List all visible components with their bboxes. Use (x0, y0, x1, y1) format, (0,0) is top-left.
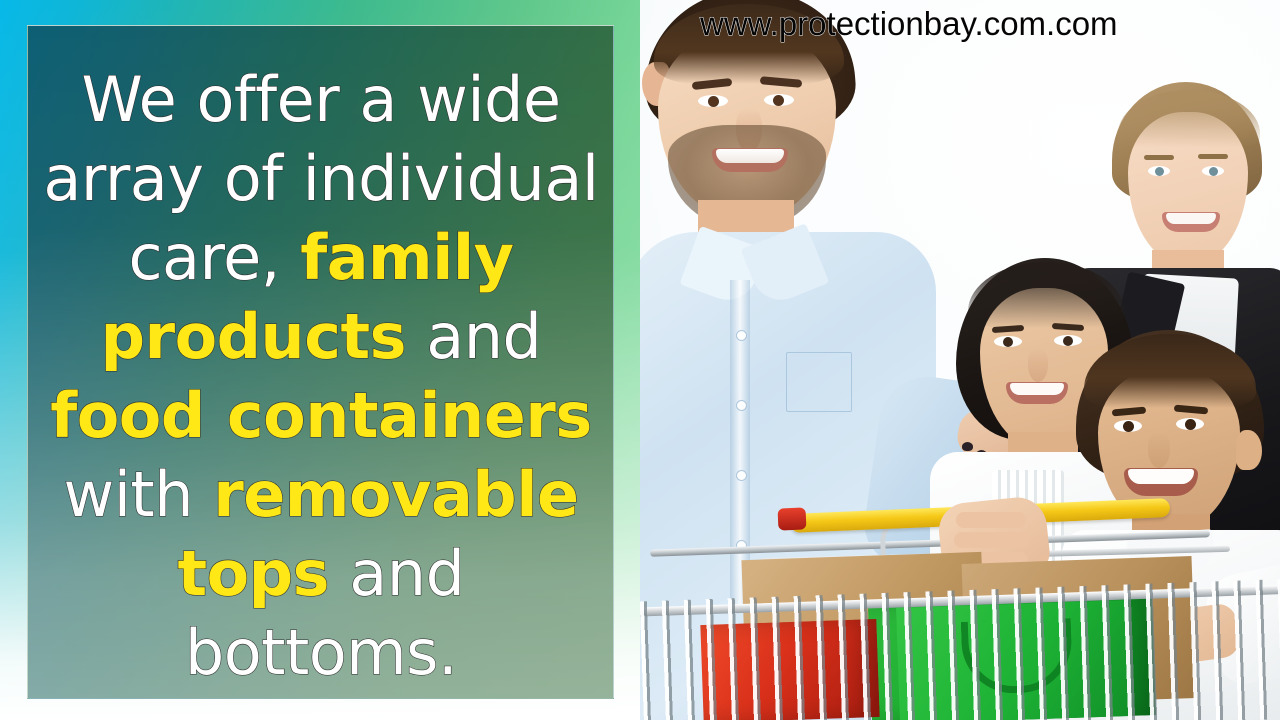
boy-nose (1148, 432, 1170, 468)
man-pupil-left (708, 96, 719, 107)
left-text-panel: We offer a wide array of individual care… (0, 0, 640, 720)
girl-nose (1028, 348, 1048, 382)
girl-pupil-left (1003, 337, 1013, 347)
boy-teeth (1128, 469, 1194, 484)
cart-basket-wires (640, 578, 1280, 720)
man-shirt-pocket (786, 352, 852, 412)
boy-pupil-right (1185, 419, 1196, 430)
woman-eyebrow-right (1198, 154, 1228, 159)
man-pupil-right (773, 95, 784, 106)
boy-pupil-left (1123, 421, 1134, 432)
cart-handle-grip (778, 507, 807, 530)
headline-segment-3: and (406, 300, 541, 373)
boy-ear (1236, 430, 1262, 470)
headline-segment-5: with (63, 458, 213, 531)
man-teeth (716, 149, 784, 163)
man-finger-2 (954, 532, 1030, 548)
watermark-url: www.protectionbay.com.com (700, 4, 1118, 44)
man-shirt-button-1 (736, 330, 747, 341)
girl-pupil-right (1063, 336, 1073, 346)
woman-teeth (1166, 213, 1216, 224)
girl-teeth (1010, 383, 1064, 395)
man-shirt-button-3 (736, 470, 747, 481)
woman-fingernail-1 (962, 442, 973, 451)
man-finger-1 (956, 512, 1026, 528)
man-shirt-button-2 (736, 400, 747, 411)
family-photo (640, 0, 1280, 720)
woman-pupil-right (1209, 167, 1218, 176)
headline-segment-4-highlight: food containers (50, 379, 592, 452)
woman-pupil-left (1155, 167, 1164, 176)
headline-text: We offer a wide array of individual care… (36, 60, 606, 692)
slide-canvas: We offer a wide array of individual care… (0, 0, 1280, 720)
woman-eyebrow-left (1144, 155, 1174, 160)
